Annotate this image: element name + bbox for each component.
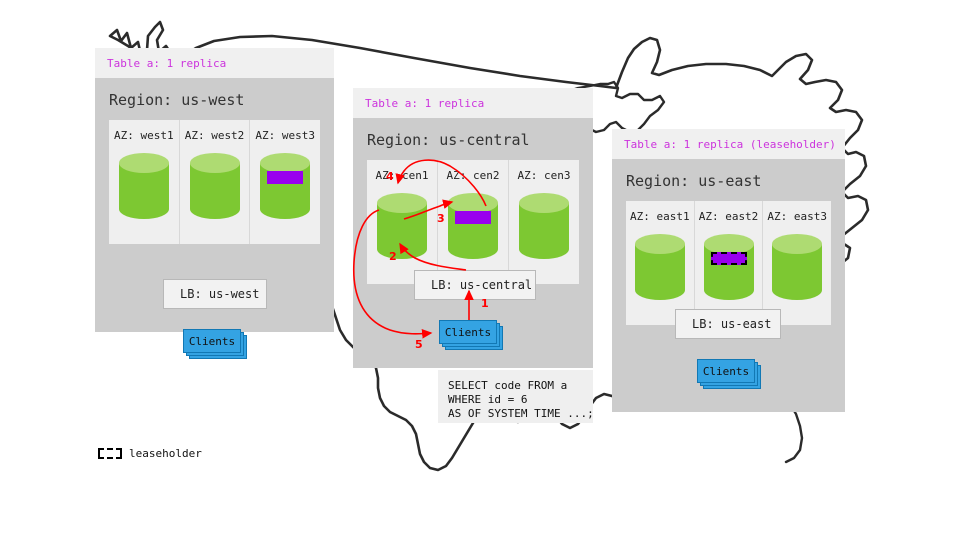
az-east2[interactable]: AZ: east2 (695, 201, 764, 325)
cylinder-east1 (634, 233, 686, 301)
clients-label: Clients (445, 327, 491, 338)
az-label: AZ: cen3 (518, 169, 571, 182)
az-label: AZ: cen2 (447, 169, 500, 182)
lb-us-east[interactable]: LB: us-east (675, 309, 781, 339)
cylinder-cen3 (518, 192, 570, 260)
az-cen2[interactable]: AZ: cen2 (438, 160, 509, 284)
clients-label: Clients (703, 366, 749, 377)
flow-step-number-3: 3 (437, 213, 445, 224)
region-banner: Table a: 1 replica (leaseholder) (612, 129, 845, 159)
az-label: AZ: cen1 (376, 169, 429, 182)
az-label: AZ: east2 (699, 210, 759, 223)
region-title: Region: us-west (95, 78, 334, 120)
replica-block-east2-leaseholder (711, 252, 747, 265)
lb-us-central[interactable]: LB: us-central (414, 270, 536, 300)
region-banner: Table a: 1 replica (95, 48, 334, 78)
cylinder-west2 (189, 152, 241, 220)
dashed-rect-icon (98, 448, 122, 459)
az-label: AZ: west3 (255, 129, 315, 142)
cylinder-west3 (259, 152, 311, 220)
cylinder-east2 (703, 233, 755, 301)
az-label: AZ: west2 (185, 129, 245, 142)
clients-us-central[interactable]: Clients (439, 320, 501, 346)
flow-step-number-2: 2 (389, 251, 397, 262)
az-label: AZ: west1 (114, 129, 174, 142)
replica-block-west3 (267, 171, 303, 184)
region-panel-us-west: Table a: 1 replica Region: us-west AZ: w… (95, 48, 334, 332)
legend: leaseholder (98, 447, 202, 460)
replica-block-cen2 (455, 211, 491, 224)
clients-card-front: Clients (439, 320, 497, 344)
flow-step-number-4: 4 (386, 171, 394, 182)
clients-card-front: Clients (697, 359, 755, 383)
cylinder-cen1 (376, 192, 428, 260)
region-title: Region: us-east (612, 159, 845, 201)
flow-step-number-1: 1 (481, 298, 489, 309)
az-cen1[interactable]: AZ: cen1 (367, 160, 438, 284)
az-cen3[interactable]: AZ: cen3 (509, 160, 579, 284)
cylinder-west1 (118, 152, 170, 220)
region-panel-us-central: Table a: 1 replica Region: us-central AZ… (353, 88, 593, 368)
az-row: AZ: cen1 AZ: cen2 (367, 160, 579, 284)
az-east1[interactable]: AZ: east1 (626, 201, 695, 325)
az-row: AZ: east1 AZ: east2 (626, 201, 831, 325)
legend-label: leaseholder (129, 447, 202, 460)
clients-label: Clients (189, 336, 235, 347)
flow-step-number-5: 5 (415, 339, 423, 350)
clients-us-east[interactable]: Clients (697, 359, 759, 385)
az-west2[interactable]: AZ: west2 (180, 120, 251, 244)
az-west3[interactable]: AZ: west3 (250, 120, 320, 244)
lb-us-west[interactable]: LB: us-west (163, 279, 267, 309)
az-label: AZ: east1 (630, 210, 690, 223)
region-banner: Table a: 1 replica (353, 88, 593, 118)
sql-query-note: SELECT code FROM a WHERE id = 6 AS OF SY… (438, 370, 593, 423)
region-title: Region: us-central (353, 118, 593, 160)
clients-us-west[interactable]: Clients (183, 329, 245, 355)
az-west1[interactable]: AZ: west1 (109, 120, 180, 244)
az-row: AZ: west1 AZ: west2 AZ: (109, 120, 320, 244)
region-panel-us-east: Table a: 1 replica (leaseholder) Region:… (612, 129, 845, 412)
az-label: AZ: east3 (767, 210, 827, 223)
florida-coast-path (786, 404, 802, 462)
az-east3[interactable]: AZ: east3 (763, 201, 831, 325)
clients-card-front: Clients (183, 329, 241, 353)
cylinder-east3 (771, 233, 823, 301)
diagram-canvas: Table a: 1 replica Region: us-west AZ: w… (0, 0, 960, 540)
cylinder-cen2 (447, 192, 499, 260)
